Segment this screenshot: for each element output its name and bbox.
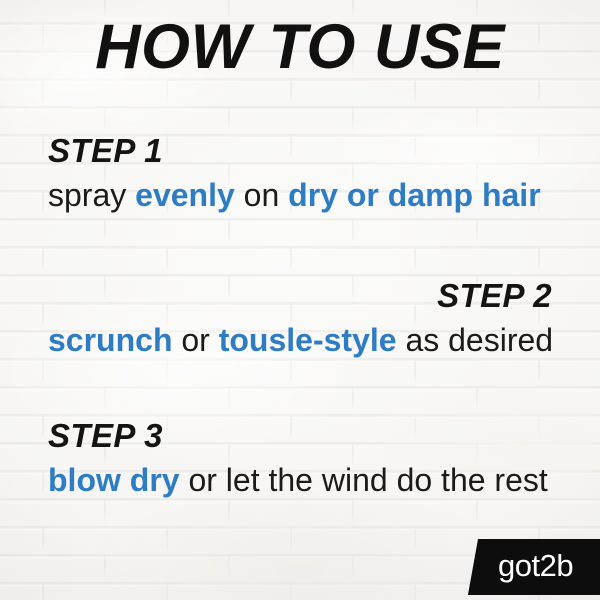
plain-phrase: on (235, 177, 288, 213)
highlighted-phrase: dry or damp hair (288, 177, 541, 213)
plain-phrase: or (172, 322, 218, 358)
got2b-brand-logo: got2b (462, 539, 600, 595)
step-2-heading: STEP 2 (48, 279, 552, 312)
step-2-body: scrunch or tousle-style as desired (48, 324, 552, 356)
step-3-body: blow dry or let the wind do the rest (48, 464, 552, 496)
plain-phrase: as desired (397, 322, 554, 358)
step-3-heading: STEP 3 (48, 419, 552, 452)
highlighted-phrase: tousle-style (219, 322, 397, 358)
content-layer: HOW TO USE STEP 1 spray evenly on dry or… (0, 0, 600, 600)
plain-phrase: spray (48, 177, 135, 213)
plain-phrase: or let the wind do the rest (180, 462, 548, 498)
step-1-heading: STEP 1 (48, 134, 552, 167)
step-1-body: spray evenly on dry or damp hair (48, 179, 552, 211)
step-3-block: STEP 3 blow dry or let the wind do the r… (48, 419, 552, 496)
step-2-block: STEP 2 scrunch or tousle-style as desire… (48, 279, 552, 356)
highlighted-phrase: blow dry (48, 462, 180, 498)
got2b-logo-text: got2b (498, 550, 573, 581)
page-title: HOW TO USE (0, 16, 600, 79)
highlighted-phrase: evenly (135, 177, 235, 213)
highlighted-phrase: scrunch (48, 322, 172, 358)
how-to-use-infographic: HOW TO USE STEP 1 spray evenly on dry or… (0, 0, 600, 600)
step-1-block: STEP 1 spray evenly on dry or damp hair (48, 134, 552, 211)
